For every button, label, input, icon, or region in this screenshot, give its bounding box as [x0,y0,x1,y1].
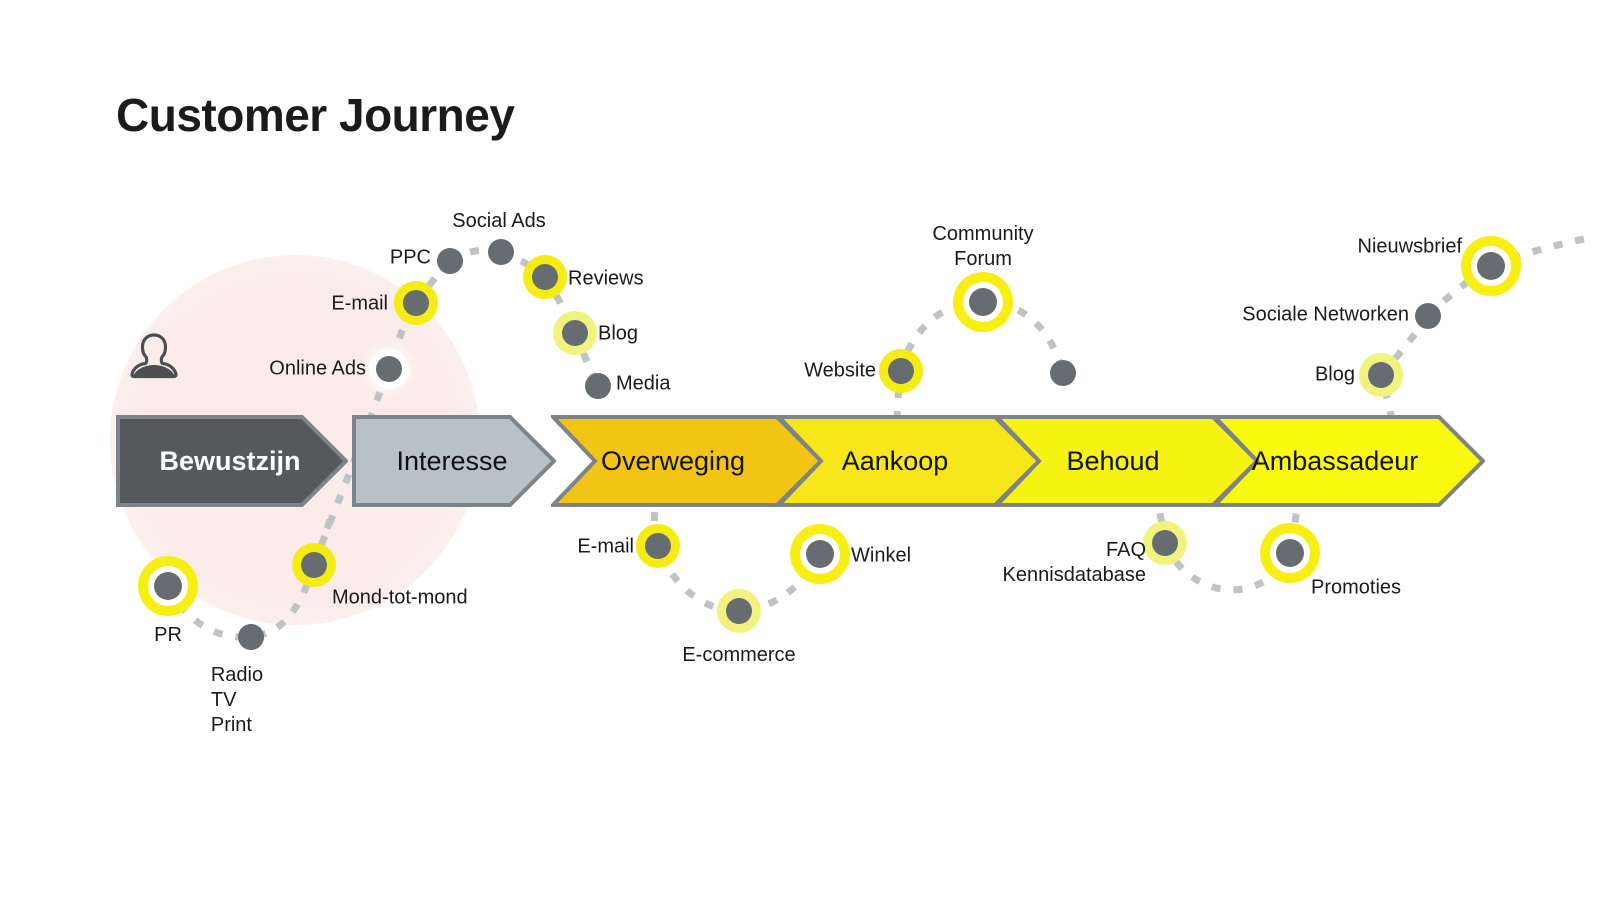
stage-label: Behoud [1066,446,1159,477]
stage-label: Ambassadeur [1252,446,1419,477]
touchpoint-dot-email-purchase[interactable] [645,533,671,559]
stage-label: Bewustzijn [159,446,300,477]
stage-label: Aankoop [842,446,949,477]
stage-chevron-overweging[interactable]: Overweging [551,415,781,507]
stage-label: Overweging [601,446,745,477]
touchpoint-dot-social-ads[interactable] [488,239,514,265]
stage-band: Bewustzijn Interesse Overweging Aankoop [0,0,1600,900]
stage-chevron-bewustzijn[interactable]: Bewustzijn [116,415,344,507]
stage-chevron-interesse[interactable]: Interesse [352,415,552,507]
touchpoint-label-blog-consideration: Blog [598,322,638,347]
touchpoint-dot-online-ads[interactable] [376,356,402,382]
diagram-canvas: Customer Journey [0,0,1600,900]
stage-chevron-behoud[interactable]: Behoud [995,415,1217,507]
touchpoint-label-media: Media [616,372,670,397]
touchpoint-label-online-ads: Online Ads [269,357,366,382]
touchpoint-dot-website[interactable] [888,358,914,384]
touchpoint-dot-ecommerce[interactable] [726,598,752,624]
touchpoint-label-winkel: Winkel [851,544,911,569]
touchpoint-label-ppc: PPC [390,246,431,271]
touchpoint-label-website: Website [804,359,876,384]
touchpoint-label-faq-kennisdatabase: FAQ Kennisdatabase [1003,538,1146,588]
touchpoint-label-community-forum: Community Forum [932,222,1033,272]
stage-chevron-ambassadeur[interactable]: Ambassadeur [1213,415,1443,507]
stage-label: Interesse [396,446,507,477]
customer-person-icon [130,332,178,388]
touchpoint-label-ecommerce: E-commerce [682,643,795,668]
touchpoint-dot-media[interactable] [585,373,611,399]
touchpoint-dot-community-forum[interactable] [969,288,997,316]
touchpoint-label-nieuwsbrief: Nieuwsbrief [1358,235,1462,260]
touchpoint-dot-ppc[interactable] [437,248,463,274]
touchpoint-dot-blog-advocacy[interactable] [1368,362,1394,388]
touchpoint-label-sociale-networken: Sociale Networken [1242,303,1409,328]
touchpoint-label-reviews: Reviews [568,267,644,292]
touchpoint-label-pr: PR [154,623,182,648]
touchpoint-dot-unlabeled-retention[interactable] [1050,360,1076,386]
stage-chevron-aankoop[interactable]: Aankoop [777,415,999,507]
touchpoint-dot-blog-consideration[interactable] [562,320,588,346]
touchpoint-label-radio-tv-print: Radio TV Print [211,663,263,738]
touchpoint-dot-pr[interactable] [154,572,182,600]
touchpoint-dot-email-interest[interactable] [403,290,429,316]
touchpoint-dot-radio-tv-print[interactable] [238,624,264,650]
touchpoint-dot-nieuwsbrief[interactable] [1477,252,1505,280]
touchpoint-label-email-interest: E-mail [331,292,388,317]
touchpoint-dot-mond-tot-mond[interactable] [301,552,327,578]
touchpoint-label-mond-tot-mond: Mond-tot-mond [332,586,468,611]
touchpoint-dot-sociale-networken[interactable] [1415,303,1441,329]
touchpoint-label-promoties: Promoties [1311,576,1401,601]
touchpoint-label-social-ads: Social Ads [452,209,545,234]
touchpoint-dot-winkel[interactable] [806,540,834,568]
touchpoint-dot-reviews[interactable] [532,264,558,290]
touchpoint-label-email-purchase: E-mail [577,535,634,560]
touchpoint-label-blog-advocacy: Blog [1315,363,1355,388]
touchpoint-dot-promoties[interactable] [1276,539,1304,567]
touchpoint-dot-faq-kennisdatabase[interactable] [1152,530,1178,556]
